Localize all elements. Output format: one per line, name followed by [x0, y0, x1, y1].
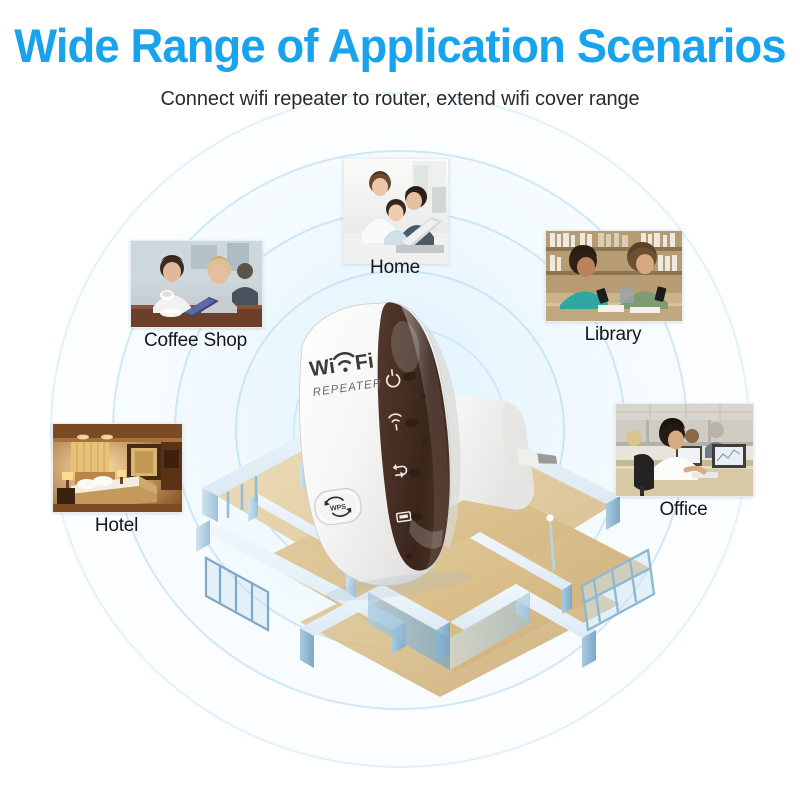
- scenario-card-hotel: Hotel: [52, 423, 181, 511]
- scenario-card-home: Home: [343, 158, 447, 262]
- scenario-caption-office: Office: [659, 499, 707, 521]
- scenario-card-coffee-shop: Coffee Shop: [130, 240, 261, 326]
- coffee-shop-photo: [130, 240, 263, 328]
- brand-wi: Wi: [308, 355, 336, 381]
- scenario-caption-coffee-shop: Coffee Shop: [144, 330, 247, 352]
- page-subheadline: Connect wifi repeater to router, extend …: [0, 88, 800, 111]
- wifi-repeater-device: Wi Fi REPEATER WPS: [239, 269, 568, 606]
- scenario-caption-home: Home: [370, 257, 420, 279]
- office-photo: [615, 403, 754, 497]
- scenario-card-library: Library: [545, 230, 681, 320]
- library-photo: [545, 230, 683, 322]
- hotel-photo: [52, 423, 183, 513]
- scenario-banner: Wi Fi REPEATER WPS: [0, 0, 800, 800]
- page-headline: Wide Range of Application Scenarios: [14, 22, 786, 71]
- home-photo: [343, 158, 449, 264]
- scenario-card-office: Office: [615, 403, 752, 495]
- scenario-caption-library: Library: [585, 324, 642, 346]
- brand-fi: Fi: [354, 349, 376, 374]
- scenario-caption-hotel: Hotel: [95, 515, 138, 537]
